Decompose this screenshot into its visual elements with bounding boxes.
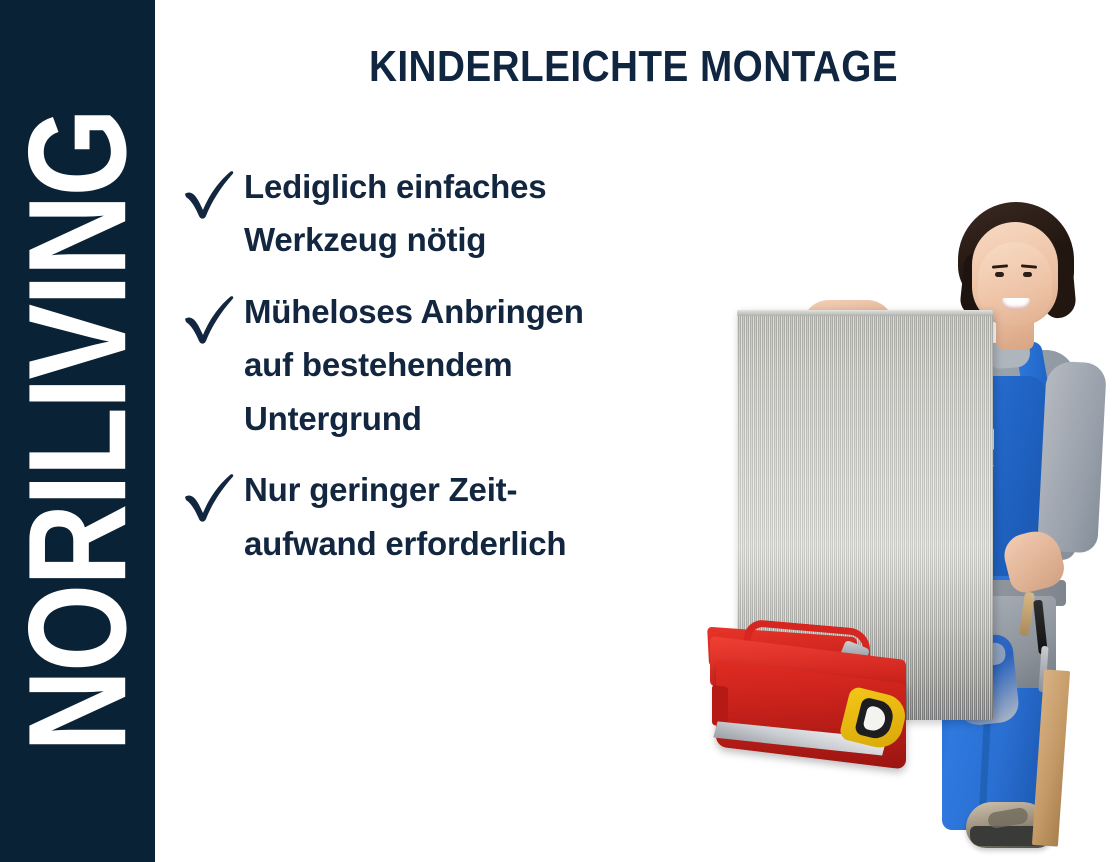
list-item-line: Untergrund: [244, 392, 584, 445]
eye-left: [995, 272, 1004, 277]
checkmark-icon: [182, 469, 244, 527]
checkmark-icon: [182, 291, 244, 349]
list-item-line: auf bestehendem: [244, 338, 584, 391]
list-item-line: Lediglich einfaches: [244, 160, 546, 213]
list-item-line: Nur geringer Zeit-: [244, 463, 566, 516]
list-item: Lediglich einfaches Werkzeug nötig: [182, 160, 692, 267]
list-item-line: Müheloses Anbringen: [244, 285, 584, 338]
list-item-label: Lediglich einfaches Werkzeug nötig: [244, 160, 546, 267]
eyebrow-left: [992, 264, 1008, 268]
checkmark-icon: [182, 166, 244, 224]
smiling-mouth: [1002, 298, 1030, 310]
infographic-canvas: NORILIVING KINDERLEICHTE MONTAGE Ledigli…: [0, 0, 1112, 862]
panel-top-edge: [737, 310, 993, 316]
list-item-line: aufwand erforderlich: [244, 517, 566, 570]
right-arm: [1037, 361, 1107, 554]
eyebrow-right: [1021, 264, 1037, 268]
product-photo: [690, 150, 1112, 862]
brand-sidebar: NORILIVING: [0, 0, 155, 862]
brand-wordmark: NORILIVING: [19, 97, 137, 765]
toolbox-latch: [712, 685, 728, 727]
list-item-line: Werkzeug nötig: [244, 213, 546, 266]
eye-right: [1023, 272, 1032, 277]
red-toolbox: [706, 622, 916, 762]
list-item: Müheloses Anbringen auf bestehendem Unte…: [182, 285, 692, 445]
page-title: KINDERLEICHTE MONTAGE: [212, 42, 1054, 92]
benefit-list: Lediglich einfaches Werkzeug nötig Mühel…: [182, 160, 692, 570]
list-item-label: Müheloses Anbringen auf bestehendem Unte…: [244, 285, 584, 445]
list-item-label: Nur geringer Zeit- aufwand erforderlich: [244, 463, 566, 570]
brand-wordmark-text: NORILIVING: [8, 110, 147, 752]
list-item: Nur geringer Zeit- aufwand erforderlich: [182, 463, 692, 570]
